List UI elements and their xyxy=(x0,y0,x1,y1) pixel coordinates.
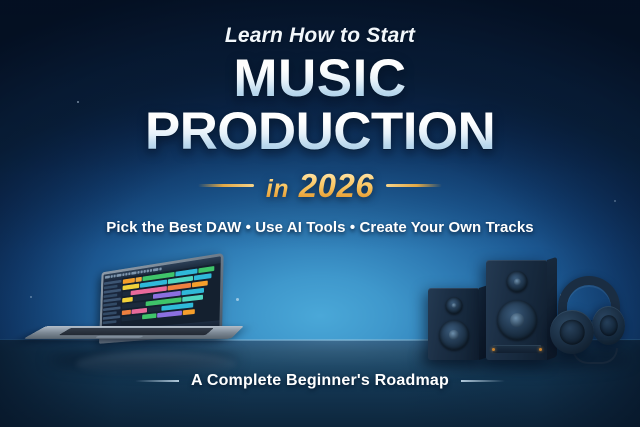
title-line-2: PRODUCTION xyxy=(0,107,640,158)
laptop-keyboard xyxy=(58,328,214,335)
year-prefix: in xyxy=(266,175,289,203)
year-row: in 2026 xyxy=(0,167,640,205)
laptop-base xyxy=(23,326,244,339)
tagline-text: A Complete Beginner's Roadmap xyxy=(191,372,449,390)
laptop-device xyxy=(46,252,246,367)
daw-track-list xyxy=(102,278,123,331)
speaker-right-front-plate xyxy=(493,345,540,353)
title-line-1: MUSIC xyxy=(0,54,640,105)
tagline-row: A Complete Beginner's Roadmap xyxy=(0,372,640,390)
speaker-power-led xyxy=(539,348,542,351)
year-number: 2026 xyxy=(299,167,374,204)
laptop-trackpad xyxy=(95,336,143,338)
speaker-power-led xyxy=(492,348,495,351)
poster-canvas: Learn How to Start MUSIC PRODUCTION in 2… xyxy=(0,0,640,427)
light-speck xyxy=(30,296,32,298)
eyebrow-text: Learn How to Start xyxy=(0,24,640,48)
audio-gear-group xyxy=(420,240,635,360)
speaker-left xyxy=(428,288,480,360)
speaker-right-woofer xyxy=(497,300,537,340)
year-rule-right xyxy=(386,184,442,187)
year-rule-left xyxy=(198,184,254,187)
subheadline-text: Pick the Best DAW • Use AI Tools • Creat… xyxy=(0,219,640,236)
headphones-earcup-back xyxy=(592,306,625,345)
speaker-right-tweeter xyxy=(507,271,528,292)
headphones xyxy=(548,276,626,356)
speaker-left-tweeter xyxy=(446,297,463,314)
speaker-right xyxy=(486,260,548,360)
speaker-left-woofer xyxy=(439,320,469,350)
tagline-rule-right xyxy=(461,380,505,382)
year-text: in 2026 xyxy=(266,167,374,205)
tagline-rule-left xyxy=(135,380,179,382)
headline-group: Learn How to Start MUSIC PRODUCTION in 2… xyxy=(0,24,640,236)
headphones-earcup-front xyxy=(550,310,594,354)
